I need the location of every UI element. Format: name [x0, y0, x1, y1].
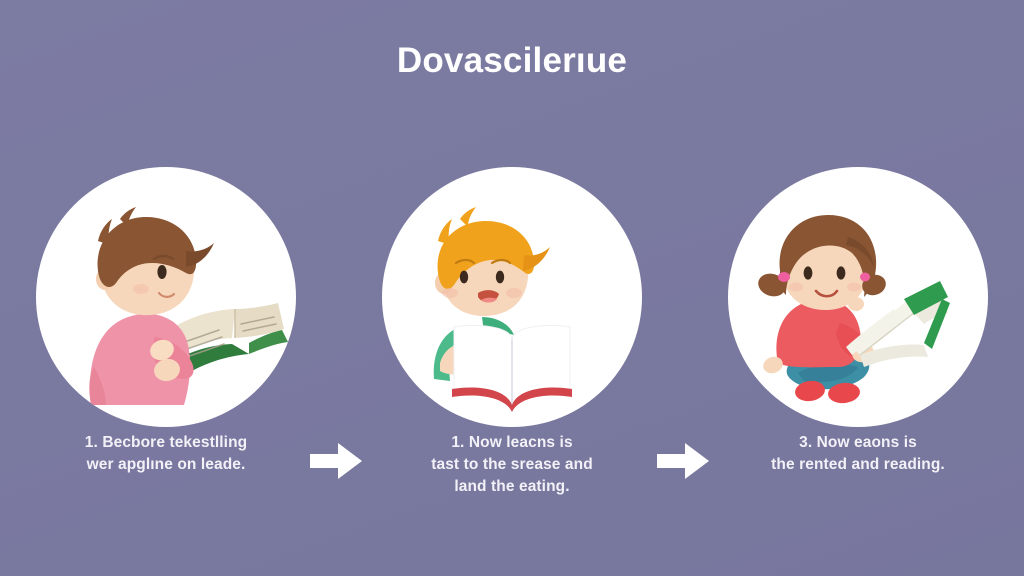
captions-row: 1. Becbore tekestlling wer apglıne on le… — [0, 432, 1024, 542]
child-head — [96, 207, 214, 315]
step-3-caption: 3. Now eaons is the rented and reading. — [718, 432, 998, 476]
child-body — [89, 314, 193, 405]
caption-line: the rented and reading. — [718, 454, 998, 476]
book-icon — [846, 281, 950, 367]
page-title: Dovascilerıue — [0, 40, 1024, 82]
step-3[interactable] — [728, 167, 988, 427]
caption-line: 1. Now leacns is — [372, 432, 652, 454]
caption-line: 1. Becbore tekestlling — [26, 432, 306, 454]
step-2-bubble — [382, 167, 642, 427]
illustration-child-reading-book-seated — [36, 167, 296, 427]
caption-line: 3. Now eaons is — [718, 432, 998, 454]
caption-line: wer apglıne on leade. — [26, 454, 306, 476]
child-head — [435, 207, 550, 316]
step-2[interactable] — [382, 167, 642, 427]
infographic-canvas: Dovascilerıue — [0, 0, 1024, 576]
illustration-child-behind-large-open-book — [382, 167, 642, 427]
pigtail-right — [859, 272, 888, 298]
step-3-bubble — [728, 167, 988, 427]
book-icon — [452, 326, 572, 413]
illustration-girl-sitting-cross-legged-reading — [728, 167, 988, 427]
step-2-caption: 1. Now leacns is tast to the srease and … — [372, 432, 652, 498]
pigtail-left — [755, 270, 790, 300]
steps-row — [0, 167, 1024, 437]
caption-line: tast to the srease and — [372, 454, 652, 476]
step-1[interactable] — [36, 167, 296, 427]
step-1-caption: 1. Becbore tekestlling wer apglıne on le… — [26, 432, 306, 476]
caption-line: land the eating. — [372, 476, 652, 498]
girl-head — [755, 215, 888, 310]
step-1-bubble — [36, 167, 296, 427]
